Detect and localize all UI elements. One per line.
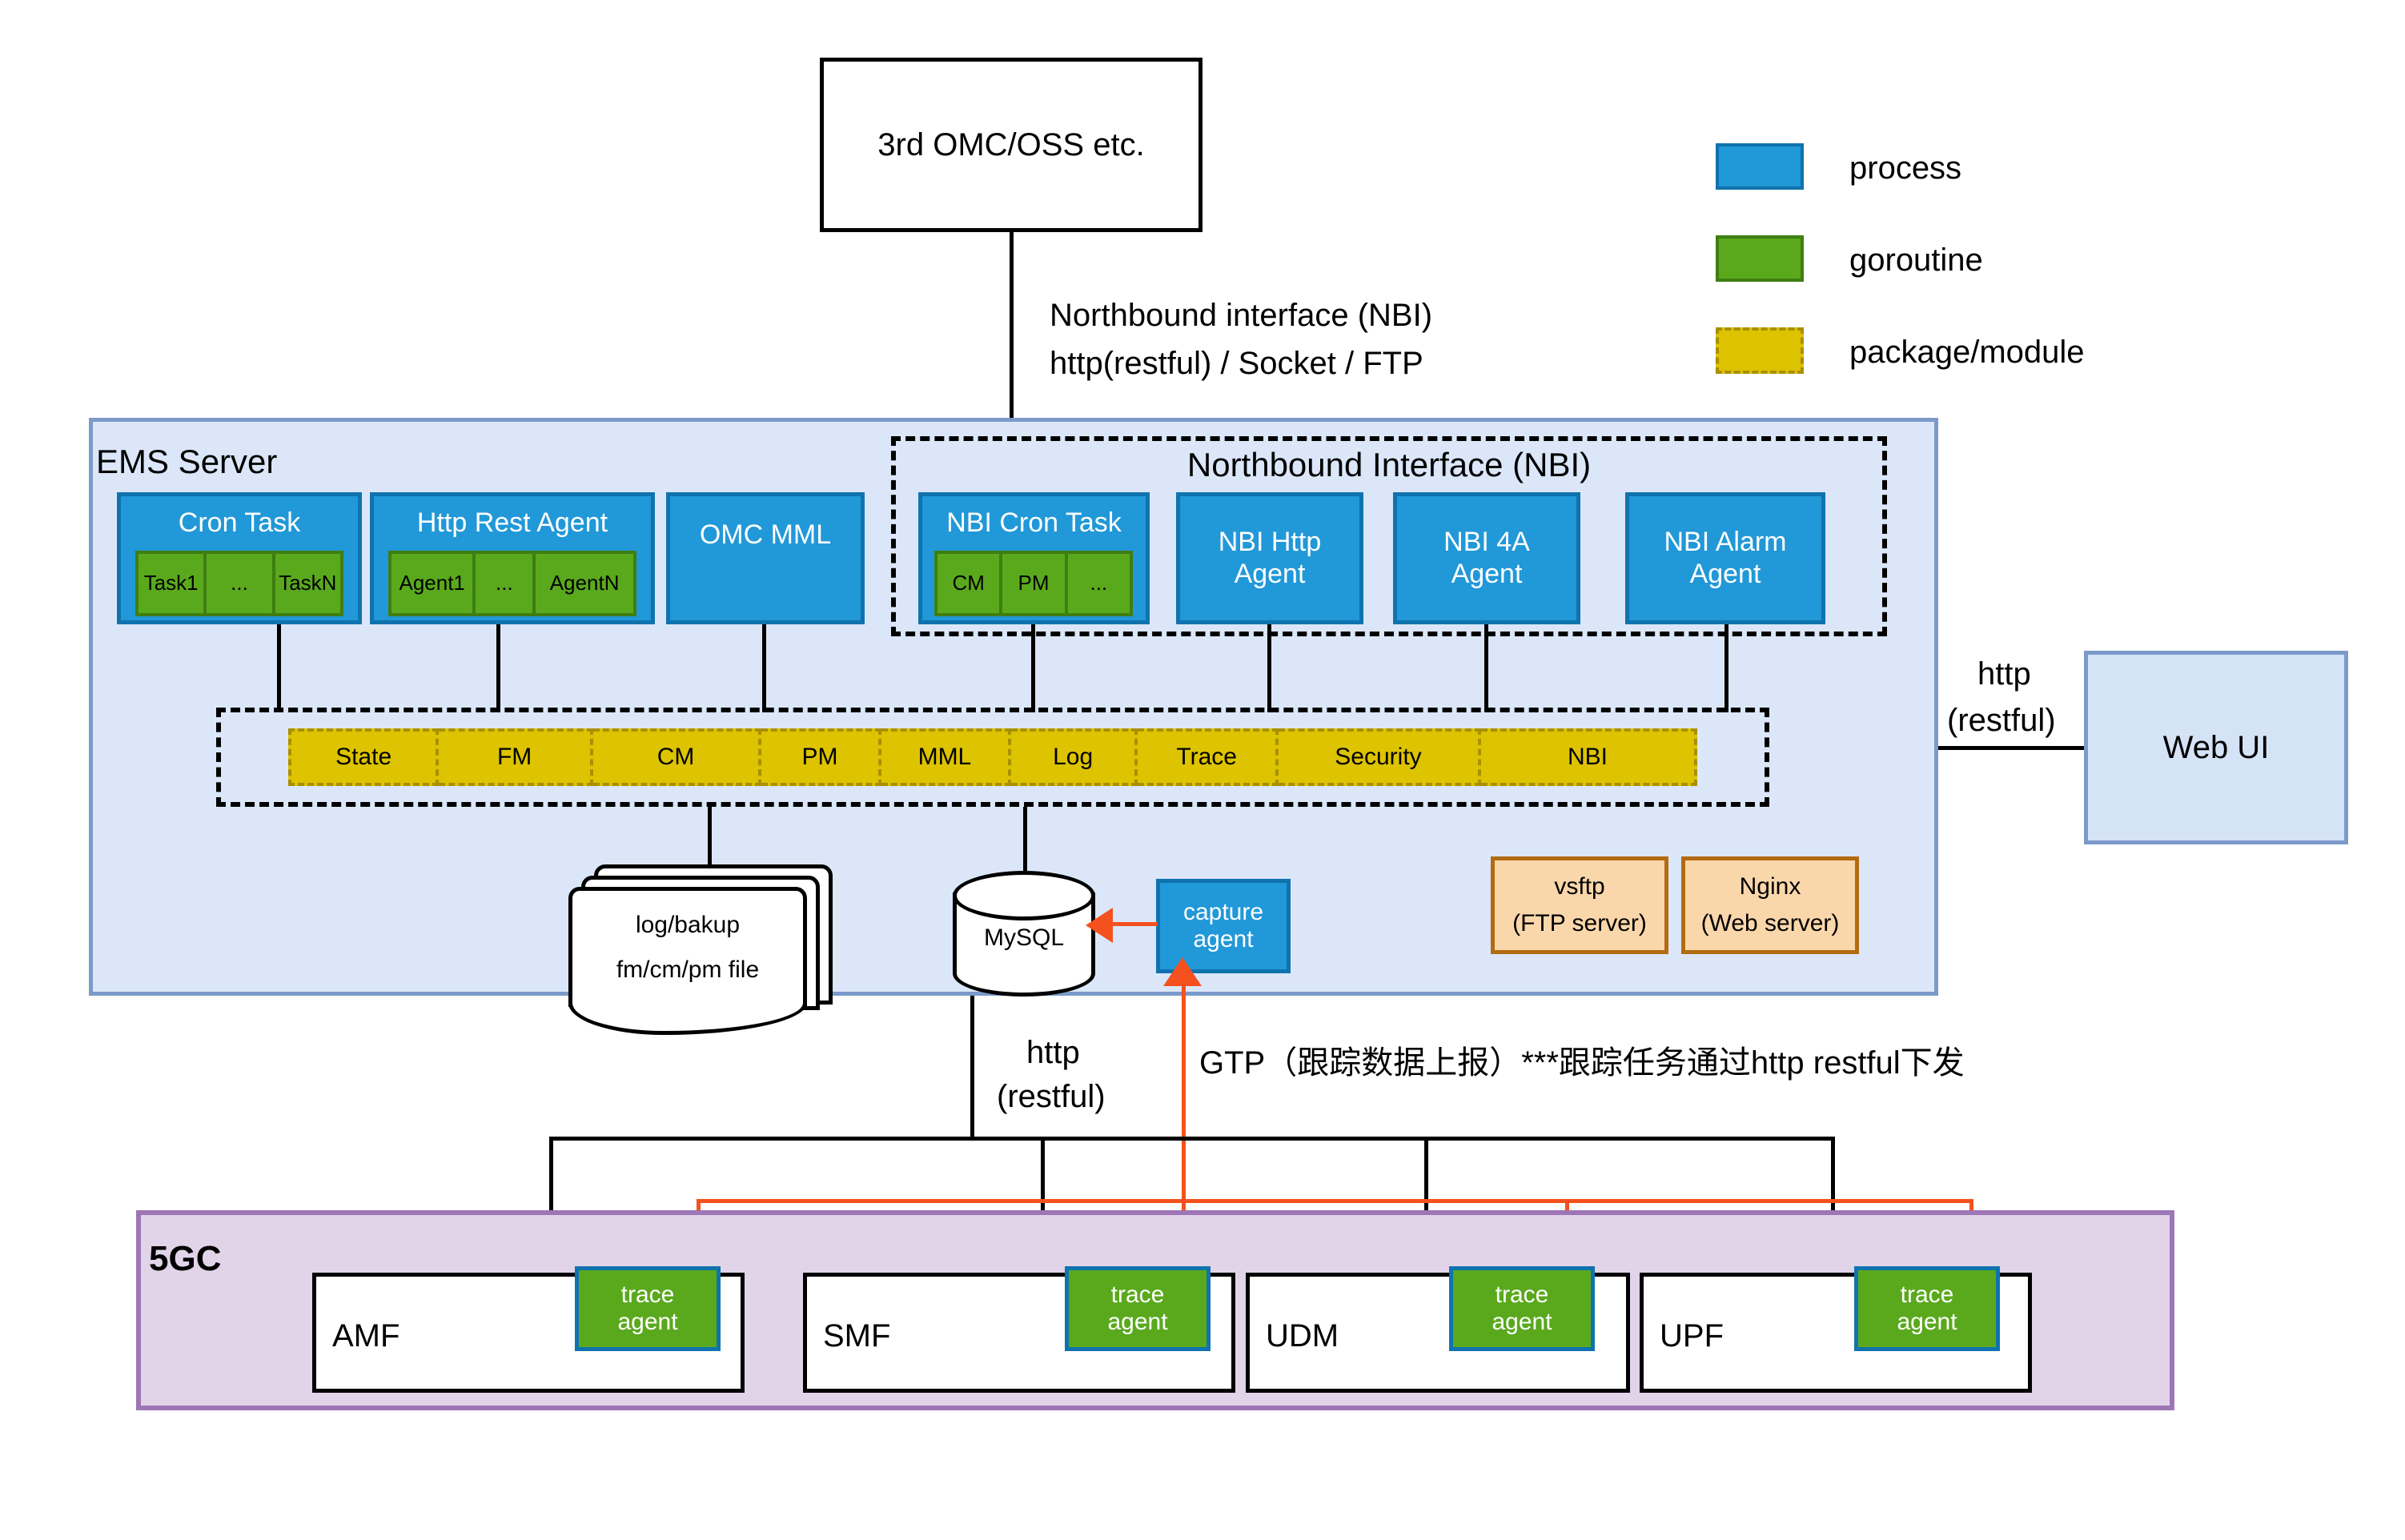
module-log[interactable]: Log xyxy=(1011,728,1138,786)
southbound-bus xyxy=(549,1137,1835,1141)
log-backup-files[interactable]: log/bakup fm/cm/pm file xyxy=(568,887,807,1007)
process-nbi-cron-task[interactable]: NBI Cron Task CM PM ... xyxy=(918,492,1150,624)
gtp-note-label: GTP（跟踪数据上报）***跟踪任务通过http restful下发 xyxy=(1199,1037,1965,1083)
module-state[interactable]: State xyxy=(288,728,439,786)
network-function-smf-label: SMF xyxy=(823,1318,890,1354)
trace-agent-upf-label: trace agent xyxy=(1897,1281,1957,1337)
server-vsftp[interactable]: vsftp (FTP server) xyxy=(1491,856,1668,954)
node-3rd-omc-oss[interactable]: 3rd OMC/OSS etc. xyxy=(820,58,1202,232)
server-vsftp-line2: (FTP server) xyxy=(1495,905,1664,942)
connector-ems-to-5gc-trunk xyxy=(970,996,974,1138)
core-network-title-5gc: 5GC xyxy=(149,1239,221,1279)
log-backup-files-line2: fm/cm/pm file xyxy=(572,950,803,990)
trace-agent-udm-label: trace agent xyxy=(1492,1281,1552,1337)
trace-agent-upf[interactable]: trace agent xyxy=(1854,1266,2000,1351)
goroutine-nbi-pm[interactable]: PM xyxy=(1002,551,1067,616)
nbi-link-label-line1: Northbound interface (NBI) xyxy=(1050,298,1432,334)
trace-agent-amf-label: trace agent xyxy=(617,1281,677,1337)
server-nginx[interactable]: Nginx (Web server) xyxy=(1681,856,1859,954)
connector-modules-to-mysql xyxy=(1023,807,1027,871)
legend-goroutine-swatch xyxy=(1716,235,1804,282)
process-nbi-http-agent-label: NBI Http Agent xyxy=(1219,527,1321,589)
module-pm[interactable]: PM xyxy=(761,728,881,786)
node-web-ui-label: Web UI xyxy=(2163,729,2270,766)
connector-ems-to-web-ui xyxy=(1938,746,2084,750)
connector-http-rest-agent-to-modules xyxy=(496,624,500,712)
module-trace[interactable]: Trace xyxy=(1138,728,1279,786)
connector-nbi-http-agent-to-modules xyxy=(1267,624,1271,712)
goroutine-agent1[interactable]: Agent1 xyxy=(388,551,476,616)
modules-bar: State FM CM PM MML Log Trace Security NB… xyxy=(288,728,1697,786)
connector-modules-to-logfiles xyxy=(708,807,712,871)
goroutine-agent-ellipsis: ... xyxy=(476,551,536,616)
connector-omc-to-ems xyxy=(1010,232,1014,418)
connector-nbi-4a-agent-to-modules xyxy=(1484,624,1488,712)
goroutine-nbi-cm[interactable]: CM xyxy=(934,551,1002,616)
database-mysql-label: MySQL xyxy=(953,920,1095,956)
process-omc-mml[interactable]: OMC MML xyxy=(666,492,865,624)
network-function-upf-label: UPF xyxy=(1660,1318,1724,1354)
connector-nbi-cron-task-to-modules xyxy=(1031,624,1035,712)
goroutine-nbi-ellipsis: ... xyxy=(1068,551,1133,616)
process-http-rest-agent[interactable]: Http Rest Agent Agent1 ... AgentN xyxy=(370,492,655,624)
process-nbi-alarm-agent-label: NBI Alarm Agent xyxy=(1664,527,1786,589)
server-nginx-line1: Nginx xyxy=(1685,868,1855,905)
process-cron-task[interactable]: Cron Task Task1 ... TaskN xyxy=(117,492,362,624)
process-nbi-4a-agent-label: NBI 4A Agent xyxy=(1443,527,1530,589)
process-http-rest-agent-goroutines: Agent1 ... AgentN xyxy=(388,551,636,616)
process-cron-task-goroutines: Task1 ... TaskN xyxy=(135,551,343,616)
process-http-rest-agent-label: Http Rest Agent xyxy=(374,503,651,544)
log-backup-files-line1: log/bakup xyxy=(572,905,803,945)
process-nbi-alarm-agent[interactable]: NBI Alarm Agent xyxy=(1625,492,1825,624)
process-nbi-4a-agent[interactable]: NBI 4A Agent xyxy=(1393,492,1580,624)
legend-goroutine-label: goroutine xyxy=(1849,243,1983,279)
goroutine-task1[interactable]: Task1 xyxy=(135,551,207,616)
node-web-ui[interactable]: Web UI xyxy=(2084,651,2348,844)
module-fm[interactable]: FM xyxy=(439,728,593,786)
connector-nbi-alarm-agent-to-modules xyxy=(1724,624,1728,712)
southbound-http-link-line2: (restful) xyxy=(997,1079,1106,1115)
diagram-canvas: 3rd OMC/OSS etc. Northbound interface (N… xyxy=(0,0,2405,1540)
process-nbi-http-agent[interactable]: NBI Http Agent xyxy=(1176,492,1363,624)
web-ui-link-line1: http xyxy=(1977,656,2031,692)
legend-process-label: process xyxy=(1849,150,1961,186)
nbi-link-label-line2: http(restful) / Socket / FTP xyxy=(1050,346,1423,382)
trace-bus xyxy=(697,1199,1973,1203)
web-ui-link-line2: (restful) xyxy=(1947,703,2056,739)
connector-omc-mml-to-modules xyxy=(762,624,766,712)
process-nbi-cron-task-goroutines: CM PM ... xyxy=(934,551,1133,616)
southbound-http-link-line1: http xyxy=(1026,1035,1080,1071)
trace-agent-amf[interactable]: trace agent xyxy=(575,1266,721,1351)
database-mysql-top xyxy=(953,871,1095,920)
nbi-group-title: Northbound Interface (NBI) xyxy=(891,445,1887,485)
process-nbi-cron-task-label: NBI Cron Task xyxy=(922,503,1146,544)
trace-agent-smf[interactable]: trace agent xyxy=(1065,1266,1211,1351)
module-cm[interactable]: CM xyxy=(593,728,761,786)
module-mml[interactable]: MML xyxy=(881,728,1011,786)
module-security[interactable]: Security xyxy=(1279,728,1481,786)
log-backup-files-wave xyxy=(568,1003,807,1035)
arrow-capture-agent-uplink-head xyxy=(1163,957,1202,986)
ems-server-title: EMS Server xyxy=(96,443,277,481)
legend-process-swatch xyxy=(1716,143,1804,190)
trace-agent-smf-label: trace agent xyxy=(1107,1281,1167,1337)
server-nginx-line2: (Web server) xyxy=(1685,905,1855,942)
process-cron-task-label: Cron Task xyxy=(121,503,358,544)
connector-cron-task-to-modules xyxy=(277,624,281,712)
legend-package-module-label: package/module xyxy=(1849,335,2085,371)
network-function-udm-label: UDM xyxy=(1266,1318,1339,1354)
node-3rd-omc-oss-label: 3rd OMC/OSS etc. xyxy=(877,126,1144,163)
process-omc-mml-label: OMC MML xyxy=(700,519,831,551)
arrow-capture-to-mysql-head xyxy=(1086,908,1113,943)
goroutine-agentn[interactable]: AgentN xyxy=(536,551,636,616)
trace-agent-udm[interactable]: trace agent xyxy=(1449,1266,1595,1351)
module-nbi[interactable]: NBI xyxy=(1481,728,1697,786)
arrow-capture-to-mysql-line xyxy=(1111,922,1158,926)
network-function-amf-label: AMF xyxy=(332,1318,399,1354)
server-vsftp-line1: vsftp xyxy=(1495,868,1664,905)
process-capture-agent-label: capture agent xyxy=(1183,899,1263,954)
goroutine-task-ellipsis: ... xyxy=(207,551,275,616)
goroutine-taskn[interactable]: TaskN xyxy=(275,551,343,616)
legend-package-module-swatch xyxy=(1716,327,1804,374)
